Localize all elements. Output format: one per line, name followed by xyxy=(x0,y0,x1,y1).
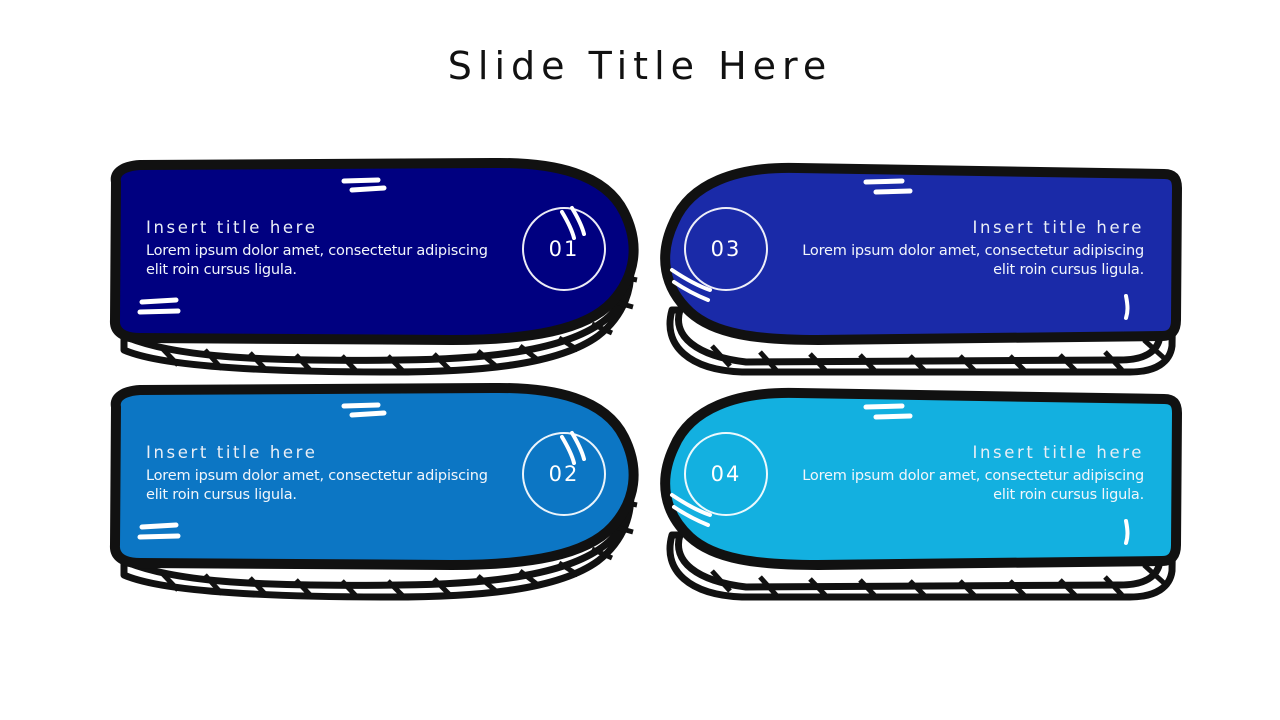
card-04-number-badge: 04 xyxy=(684,432,768,516)
card-03-content: Insert title here Lorem ipsum dolor amet… xyxy=(650,160,1190,338)
card-02[interactable]: Insert title here Lorem ipsum dolor amet… xyxy=(100,385,640,585)
card-04-text: Insert title here Lorem ipsum dolor amet… xyxy=(776,443,1144,504)
card-03-description: Lorem ipsum dolor amet, consectetur adip… xyxy=(786,242,1144,279)
card-03-title: Insert title here xyxy=(786,218,1144,237)
card-01-content: Insert title here Lorem ipsum dolor amet… xyxy=(100,160,640,338)
card-02-description: Lorem ipsum dolor amet, consectetur adip… xyxy=(146,467,504,504)
card-03-number: 03 xyxy=(711,237,742,261)
card-04[interactable]: Insert title here Lorem ipsum dolor amet… xyxy=(650,385,1190,585)
card-02-content: Insert title here Lorem ipsum dolor amet… xyxy=(100,385,640,563)
card-01-title: Insert title here xyxy=(146,218,504,237)
page-title: Slide Title Here xyxy=(0,44,1280,88)
card-02-text: Insert title here Lorem ipsum dolor amet… xyxy=(146,443,514,504)
card-01-number: 01 xyxy=(549,237,580,261)
card-01-description: Lorem ipsum dolor amet, consectetur adip… xyxy=(146,242,504,279)
card-04-description: Lorem ipsum dolor amet, consectetur adip… xyxy=(786,467,1144,504)
card-04-content: Insert title here Lorem ipsum dolor amet… xyxy=(650,385,1190,563)
card-04-number: 04 xyxy=(711,462,742,486)
card-01[interactable]: Insert title here Lorem ipsum dolor amet… xyxy=(100,160,640,360)
card-01-number-badge: 01 xyxy=(522,207,606,291)
card-03-text: Insert title here Lorem ipsum dolor amet… xyxy=(776,218,1144,279)
card-03[interactable]: Insert title here Lorem ipsum dolor amet… xyxy=(650,160,1190,360)
card-02-title: Insert title here xyxy=(146,443,504,462)
slide-canvas: Slide Title Here xyxy=(0,0,1280,720)
card-02-number-badge: 02 xyxy=(522,432,606,516)
card-01-text: Insert title here Lorem ipsum dolor amet… xyxy=(146,218,514,279)
card-02-number: 02 xyxy=(549,462,580,486)
card-04-title: Insert title here xyxy=(786,443,1144,462)
card-03-number-badge: 03 xyxy=(684,207,768,291)
